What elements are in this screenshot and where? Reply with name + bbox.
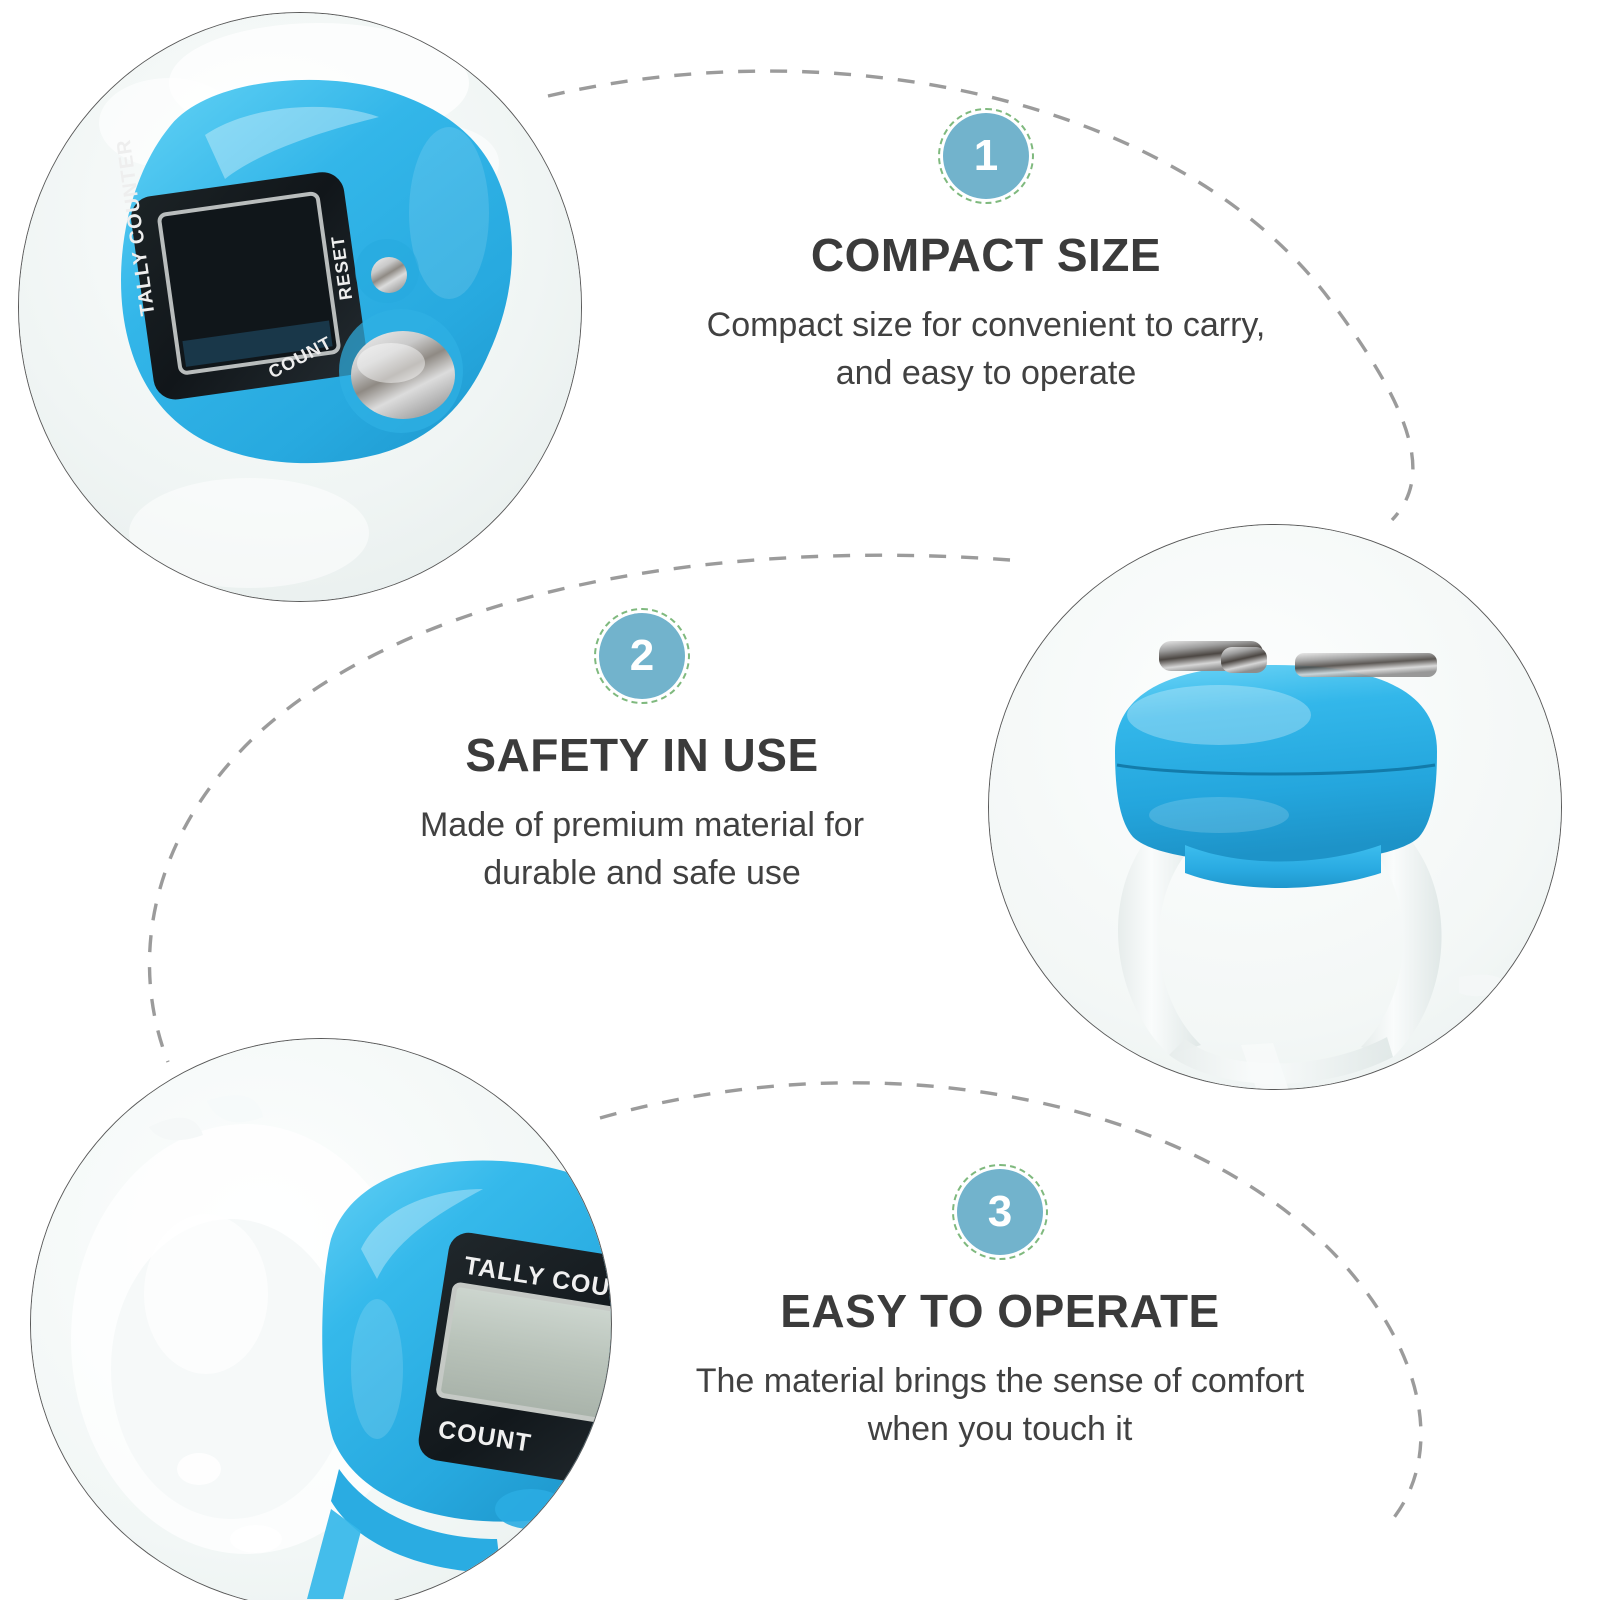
feature-title-2: SAFETY IN USE — [292, 730, 992, 781]
feature-desc-3: The material brings the sense of comfort… — [640, 1357, 1360, 1454]
feature-badge-1: 1 — [938, 108, 1034, 204]
feature-title-1: COMPACT SIZE — [636, 230, 1336, 281]
badge-number-3: 3 — [957, 1169, 1043, 1255]
feature-desc-3-line-2: when you touch it — [868, 1410, 1133, 1448]
badge-number-2: 2 — [599, 613, 685, 699]
feature-desc-2-line-2: durable and safe use — [483, 854, 801, 892]
infographic-canvas: TALLY COUNTER COUNT RESET 1 COMPACT SIZE… — [0, 0, 1600, 1600]
feature-block-1: 1 COMPACT SIZE Compact size for convenie… — [636, 108, 1336, 397]
feature-badge-2: 2 — [594, 608, 690, 704]
product-photo-angled-view-illustration: TALLY COUNT COUNT RE — [31, 1039, 611, 1600]
feature-desc-2: Made of premium material for durable and… — [292, 801, 992, 898]
feature-desc-1-line-1: Compact size for convenient to carry, — [707, 306, 1266, 344]
product-photo-side-view — [988, 524, 1562, 1090]
feature-title-3: EASY TO OPERATE — [640, 1286, 1360, 1337]
feature-block-3: 3 EASY TO OPERATE The material brings th… — [640, 1164, 1360, 1453]
battery-cover-edge — [1295, 653, 1437, 677]
product-photo-top-view-illustration: TALLY COUNTER COUNT RESET — [19, 13, 581, 601]
reset-button-side — [1221, 647, 1267, 673]
feature-block-2: 2 SAFETY IN USE Made of premium material… — [292, 608, 992, 897]
feature-desc-1: Compact size for convenient to carry, an… — [636, 301, 1336, 398]
reset-pin-button — [371, 257, 407, 293]
product-photo-side-view-illustration — [989, 525, 1561, 1089]
feature-desc-2-line-1: Made of premium material for — [420, 806, 864, 844]
product-photo-top-view: TALLY COUNTER COUNT RESET — [18, 12, 582, 602]
badge-number-1: 1 — [943, 113, 1029, 199]
feature-badge-3: 3 — [952, 1164, 1048, 1260]
feature-desc-3-line-1: The material brings the sense of comfort — [696, 1362, 1305, 1400]
product-photo-angled-view: TALLY COUNT COUNT RE — [30, 1038, 612, 1600]
feature-desc-1-line-2: and easy to operate — [836, 354, 1137, 392]
